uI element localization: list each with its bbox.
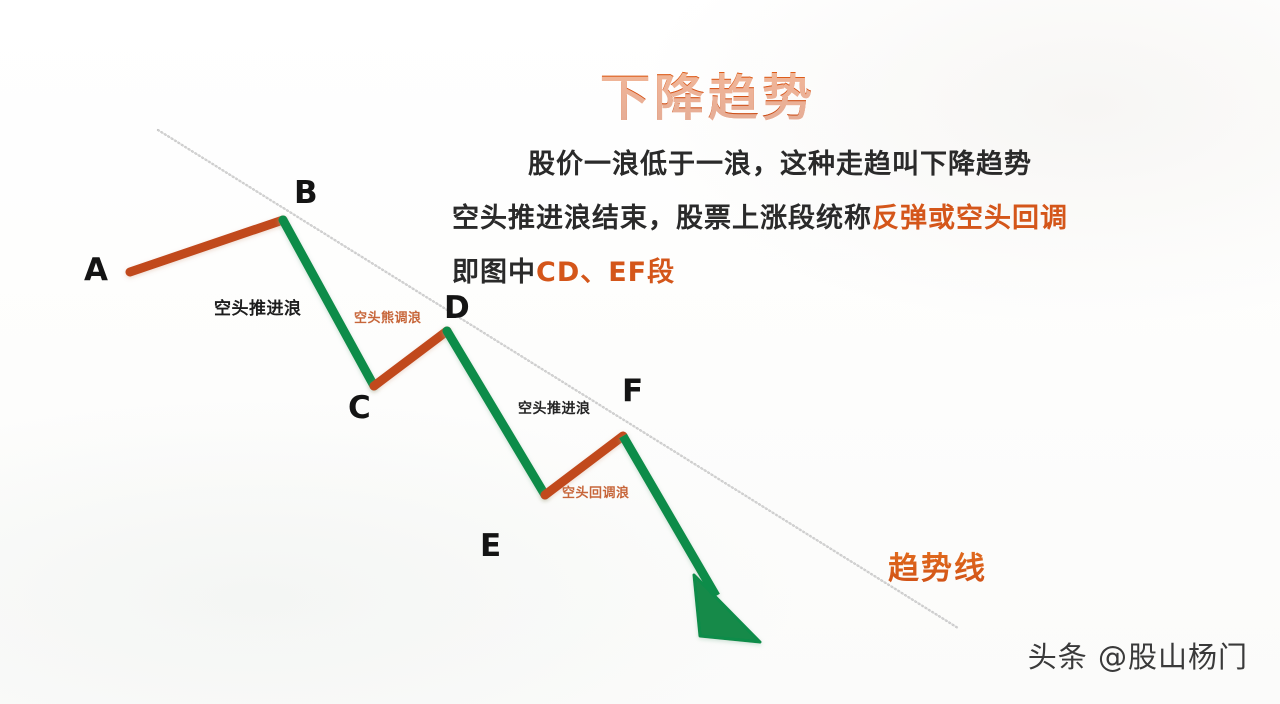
- point-label-a: A: [84, 255, 108, 286]
- watermark: 头条 @股山杨门: [1028, 634, 1248, 676]
- segment-ab: [130, 220, 283, 272]
- infographic-canvas: 下降趋势 下降趋势 股价一浪低于一浪，这种走趋叫下降趋势 空头推进浪结束，股票上…: [0, 0, 1280, 704]
- description-line-3-plain: 即图中: [452, 257, 536, 288]
- annotation-pullback-cd: 空头熊调浪: [354, 307, 422, 326]
- description-line-3-highlight: CD、EF段: [536, 257, 675, 288]
- description-line-1: 股价一浪低于一浪，这种走趋叫下降趋势: [528, 142, 1032, 181]
- segment-f-arrow: [623, 436, 760, 642]
- annotation-impulse-bc: 空头推进浪: [214, 294, 302, 319]
- point-label-e: E: [480, 531, 501, 562]
- description-line-3: 即图中CD、EF段: [452, 250, 675, 289]
- page-title: 下降趋势: [600, 58, 816, 130]
- trend-line-caption: 趋势线: [888, 543, 987, 588]
- point-label-b: B: [294, 178, 318, 209]
- description-line-2: 空头推进浪结束，股票上涨段统称反弹或空头回调: [452, 196, 1068, 235]
- point-label-f: F: [622, 376, 643, 407]
- annotation-impulse-de: 空头推进浪: [518, 398, 591, 418]
- point-label-c: C: [348, 393, 371, 424]
- annotation-pullback-ef: 空头回调浪: [562, 482, 630, 501]
- description-line-2-plain: 空头推进浪结束，股票上涨段统称: [452, 203, 872, 234]
- point-label-d: D: [444, 293, 470, 324]
- description-line-2-highlight: 反弹或空头回调: [872, 203, 1068, 234]
- segment-cd: [374, 331, 447, 386]
- down-arrow-head: [694, 575, 760, 642]
